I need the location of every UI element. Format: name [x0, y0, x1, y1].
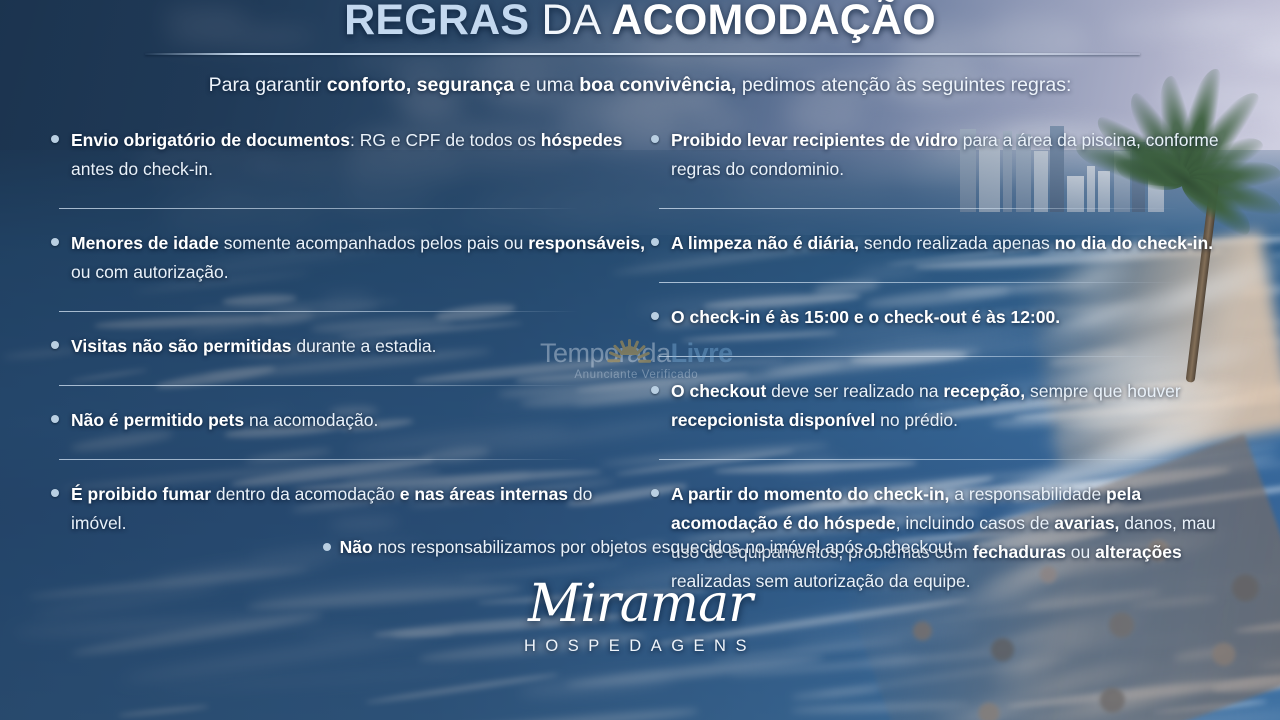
title-divider	[145, 53, 1140, 55]
brand-name: Miramar	[0, 578, 1280, 630]
rule-bold-1: Visitas não são permitidas	[71, 336, 291, 356]
bullet-icon	[651, 238, 659, 246]
rule-text-2: antes do check-in.	[71, 159, 213, 179]
rule-text-1: deve ser realizado na	[766, 381, 943, 401]
watermark-subtitle: Anunciante Verificado	[540, 369, 733, 381]
rule-item: Menores de idade somente acompanhados pe…	[45, 229, 645, 287]
watermark-name-b: Livre	[671, 338, 733, 368]
rule-separator	[59, 459, 579, 460]
title-part-da: DA	[529, 0, 611, 44]
rule-item: Envio obrigatório de documentos: RG e CP…	[45, 126, 645, 184]
brand-tagline: HOSPEDAGENS	[0, 637, 1280, 656]
rule-separator	[59, 311, 579, 312]
rule-bold-1: Envio obrigatório de documentos	[71, 130, 350, 150]
title-part-acomodacao: ACOMODAÇÃO	[611, 0, 935, 44]
bullet-icon	[51, 238, 59, 246]
rule-bold-2: e nas áreas internas	[400, 484, 568, 504]
rule-text-3: no prédio.	[875, 410, 958, 430]
rule-text-1: somente acompanhados pelos pais ou	[219, 233, 528, 253]
rule-bold-1: Proibido levar recipientes de vidro	[671, 130, 958, 150]
rule-text-1: durante a estadia.	[291, 336, 436, 356]
bullet-icon	[651, 386, 659, 394]
rule-bold-2: recepção,	[943, 381, 1025, 401]
bullet-icon	[651, 489, 659, 497]
rule-separator	[59, 385, 579, 386]
intro-pre: Para garantir	[209, 74, 327, 96]
intro-mid: e uma	[514, 74, 579, 96]
page-title: REGRAS DA ACOMODAÇÃO	[0, 0, 1280, 43]
bullet-icon	[51, 341, 59, 349]
sun-icon	[608, 336, 650, 362]
rule-bold-1: Menores de idade	[71, 233, 219, 253]
rule-bold-3: avarias,	[1054, 513, 1119, 533]
footer-disclaimer: Não nos responsabilizamos por objetos es…	[0, 537, 1280, 558]
bullet-icon	[51, 135, 59, 143]
rule-item: É proibido fumar dentro da acomodação e …	[45, 480, 645, 538]
rule-separator	[659, 208, 1179, 209]
rule-bold-2: responsáveis,	[528, 233, 645, 253]
footer-bold: Não	[340, 537, 373, 557]
rule-bold-2: hóspedes	[541, 130, 623, 150]
rule-item: A limpeza não é diária, sendo realizada …	[645, 229, 1245, 258]
rule-item: O checkout deve ser realizado na recepçã…	[645, 377, 1245, 435]
rule-bold-1: O check-in é às 15:00 e o check-out é às…	[671, 307, 1060, 327]
rule-bold-3: recepcionista disponível	[671, 410, 875, 430]
rule-separator	[659, 459, 1179, 460]
rule-bold-1: É proibido fumar	[71, 484, 211, 504]
bullet-icon	[651, 312, 659, 320]
rule-text-2: ou com autorização.	[71, 262, 229, 282]
bullet-icon	[323, 543, 331, 551]
intro-bold-1: conforto, segurança	[327, 74, 514, 96]
rule-item: O check-in é às 15:00 e o check-out é às…	[645, 303, 1245, 332]
intro-line: Para garantir conforto, segurança e uma …	[0, 74, 1280, 97]
accommodation-rules-poster: REGRAS DA ACOMODAÇÃO Para garantir confo…	[0, 0, 1280, 720]
rule-bold-2: no dia do check-in.	[1055, 233, 1214, 253]
rule-text-2: sempre que houver	[1025, 381, 1181, 401]
intro-bold-2: boa convivência,	[579, 74, 736, 96]
bullet-icon	[51, 415, 59, 423]
rule-text-1: na acomodação.	[244, 410, 378, 430]
rules-column-right: Proibido levar recipientes de vidro para…	[645, 126, 1245, 596]
rule-bold-1: A limpeza não é diária,	[671, 233, 859, 253]
rule-item: Proibido levar recipientes de vidro para…	[645, 126, 1245, 184]
rule-bold-1: O checkout	[671, 381, 766, 401]
brand-logo: Miramar HOSPEDAGENS	[0, 578, 1280, 656]
rule-bold-1: Não é permitido pets	[71, 410, 244, 430]
title-part-regras: REGRAS	[344, 0, 529, 44]
bullet-icon	[51, 489, 59, 497]
watermark-name-a: Temporada	[540, 338, 671, 368]
rule-text-1: dentro da acomodação	[211, 484, 400, 504]
rule-bold-1: A partir do momento do check-in,	[671, 484, 949, 504]
rule-text-1: sendo realizada apenas	[859, 233, 1055, 253]
rule-text-1: : RG e CPF de todos os	[350, 130, 541, 150]
intro-post: pedimos atenção às seguintes regras:	[736, 74, 1071, 96]
temporada-livre-watermark: TemporadaLivre Anunciante Verificado	[540, 340, 733, 381]
rule-separator	[659, 356, 1179, 357]
rule-text-1: a responsabilidade	[949, 484, 1106, 504]
footer-text: nos responsabilizamos por objetos esquec…	[373, 537, 958, 557]
rule-separator	[659, 282, 1179, 283]
bullet-icon	[651, 135, 659, 143]
rule-item: Não é permitido pets na acomodação.	[45, 406, 645, 435]
rule-text-2: , incluindo casos de	[896, 513, 1055, 533]
rules-column-left: Envio obrigatório de documentos: RG e CP…	[45, 126, 645, 538]
rule-separator	[59, 208, 579, 209]
